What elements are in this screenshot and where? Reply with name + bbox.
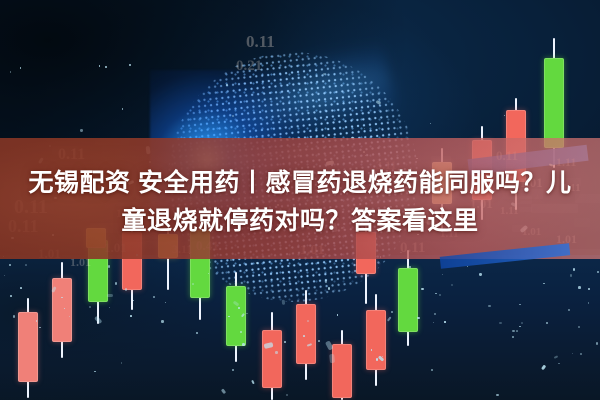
- floating-number: 0.21: [236, 58, 262, 75]
- floating-number: 0.11: [246, 32, 275, 52]
- headline-title: 无锡配资 安全用药丨感冒药退烧药能同服吗？儿 童退烧就停药对吗？答案看这里: [0, 158, 600, 246]
- headline-line-2: 童退烧就停药对吗？答案看这里: [121, 202, 478, 240]
- poster-image: 0.110.210.110.110.111.011.011.011.013.11…: [0, 0, 600, 400]
- headline-line-1: 无锡配资 安全用药丨感冒药退烧药能同服吗？儿: [29, 164, 572, 202]
